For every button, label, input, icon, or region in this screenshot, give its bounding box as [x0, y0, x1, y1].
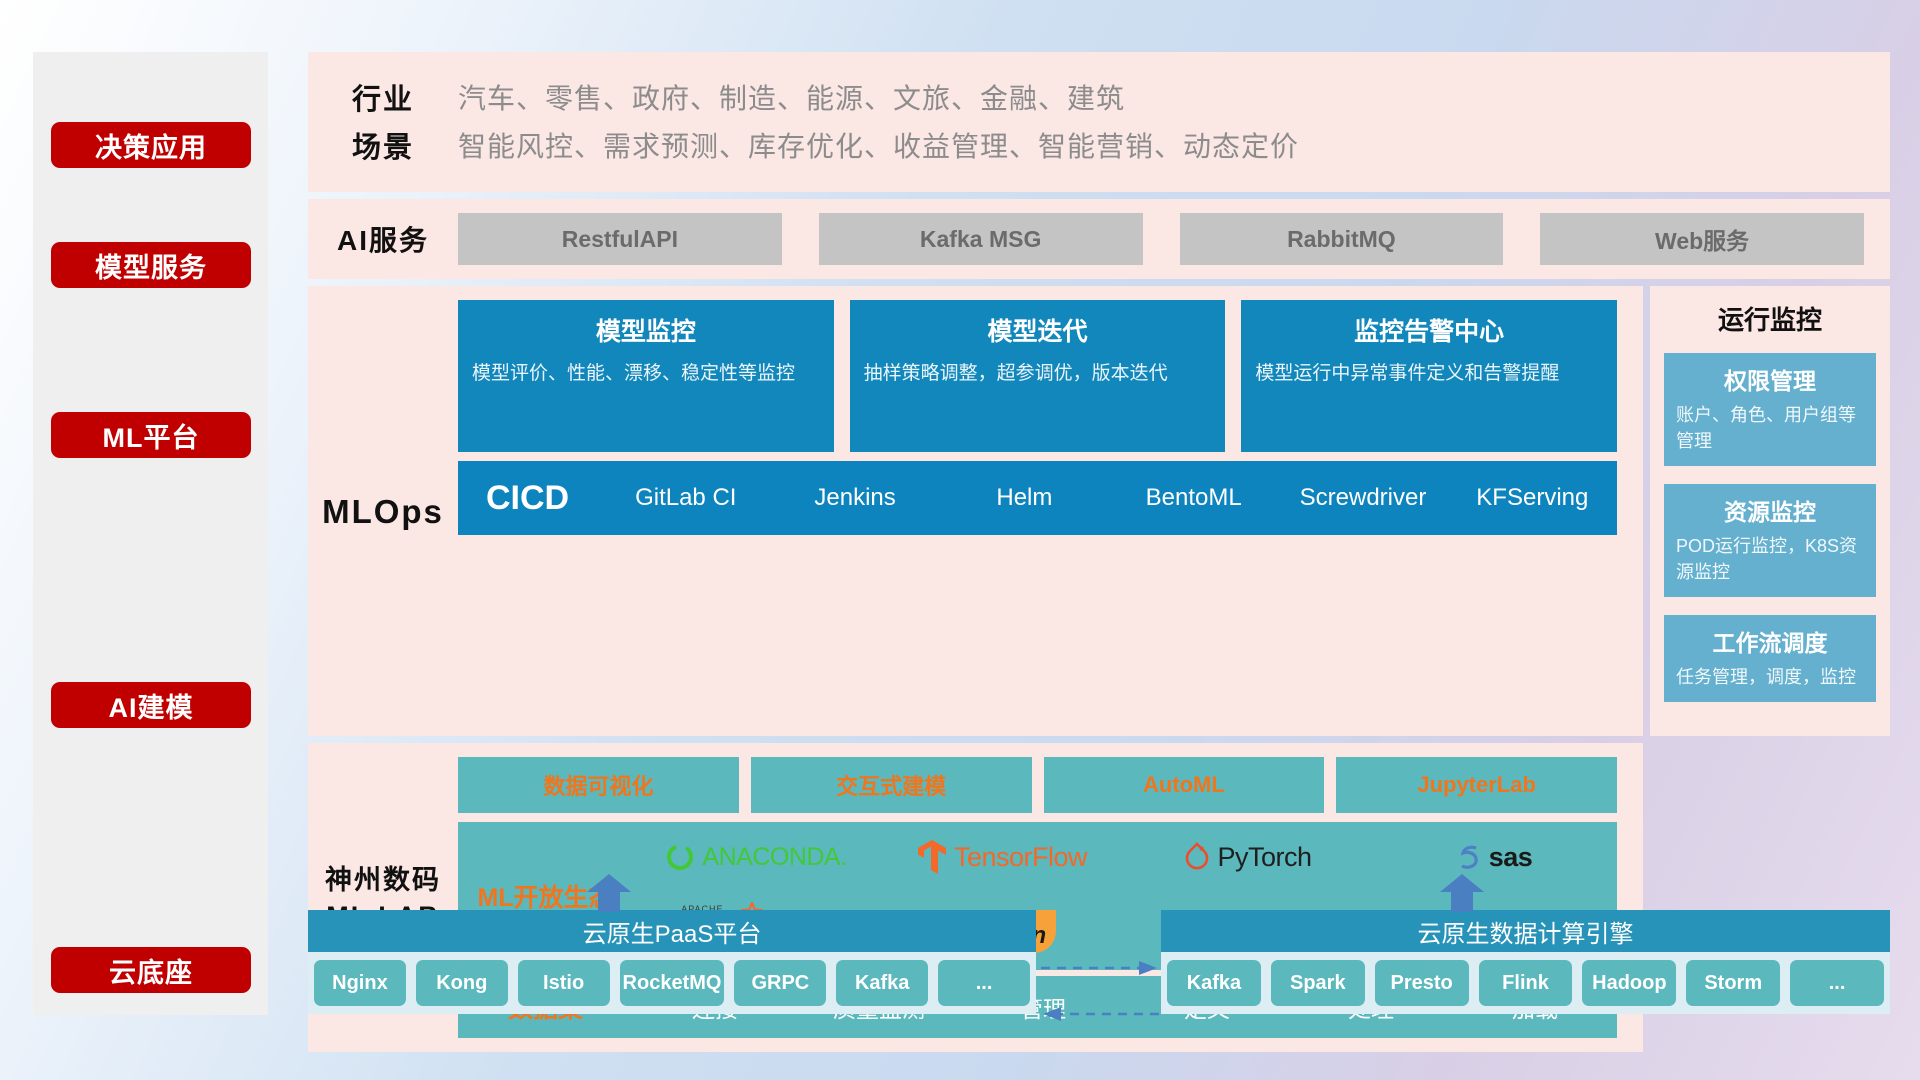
monitor-card-0[interactable]: 权限管理账户、角色、用户组等管理: [1664, 353, 1876, 466]
data-engine-chip-0[interactable]: Kafka: [1167, 960, 1261, 1006]
mlops-card-desc: 抽样策略调整，超参调优，版本迭代: [864, 360, 1212, 389]
ml-tool-chip-2[interactable]: AutoML: [1044, 757, 1325, 813]
mlops-card-desc: 模型运行中异常事件定义和告警提醒: [1255, 360, 1603, 389]
monitor-card-2[interactable]: 工作流调度任务管理，调度，监控: [1664, 615, 1876, 702]
data-engine-up-arrow-icon: [1440, 874, 1484, 912]
rail-chip-3[interactable]: AI建模: [51, 682, 251, 728]
mlops-content: 模型监控模型评价、性能、漂移、稳定性等监控模型迭代抽样策略调整，超参调优，版本迭…: [458, 300, 1643, 724]
rail-chip-1[interactable]: 模型服务: [51, 242, 251, 288]
runtime-monitoring-panel: 运行监控 权限管理账户、角色、用户组等管理资源监控POD运行监控，K8S资源监控…: [1650, 286, 1890, 736]
scenario-label: 场景: [308, 124, 458, 166]
ai-service-chip-1[interactable]: Kafka MSG: [819, 213, 1143, 265]
cicd-item-5[interactable]: KFServing: [1448, 479, 1617, 517]
mlops-card-row: 模型监控模型评价、性能、漂移、稳定性等监控模型迭代抽样策略调整，超参调优，版本迭…: [458, 300, 1617, 452]
paas-up-arrow-icon: [587, 874, 631, 912]
cicd-item-3[interactable]: BentoML: [1109, 479, 1278, 517]
industry-label: 行业: [308, 76, 458, 118]
paas-chip-6[interactable]: ...: [938, 960, 1030, 1006]
paas-chip-3[interactable]: RocketMQ: [620, 960, 725, 1006]
ml-tool-chip-1[interactable]: 交互式建模: [751, 757, 1032, 813]
cloud-foundation-section: 云原生PaaS平台 NginxKongIstioRocketMQGRPCKafk…: [308, 886, 1890, 1016]
ml-tool-chip-0[interactable]: 数据可视化: [458, 757, 739, 813]
paas-platform-header: 云原生PaaS平台: [308, 910, 1036, 952]
monitor-card-desc: 任务管理，调度，监控: [1676, 664, 1864, 690]
data-engine-chip-4[interactable]: Hadoop: [1582, 960, 1676, 1006]
anaconda-logo: ANACONDA.: [633, 842, 879, 872]
paas-chip-5[interactable]: Kafka: [836, 960, 928, 1006]
mlops-card-2[interactable]: 监控告警中心模型运行中异常事件定义和告警提醒: [1241, 300, 1617, 452]
paas-chip-4[interactable]: GRPC: [734, 960, 826, 1006]
ai-service-label: AI服务: [308, 219, 458, 259]
data-engine-group: 云原生数据计算引擎 KafkaSparkPrestoFlinkHadoopSto…: [1161, 910, 1890, 1014]
mlops-card-desc: 模型评价、性能、漂移、稳定性等监控: [472, 360, 820, 389]
mlops-band: MLOps 模型监控模型评价、性能、漂移、稳定性等监控模型迭代抽样策略调整，超参…: [308, 286, 1890, 736]
monitor-card-1[interactable]: 资源监控POD运行监控，K8S资源监控: [1664, 484, 1876, 597]
data-engine-chip-3[interactable]: Flink: [1479, 960, 1573, 1006]
pytorch-logo: PyTorch: [1125, 842, 1371, 873]
data-engine-chip-row: KafkaSparkPrestoFlinkHadoopStorm...: [1161, 952, 1890, 1014]
ai-service-chip-0[interactable]: RestfulAPI: [458, 213, 782, 265]
ml-tool-chip-3[interactable]: JupyterLab: [1336, 757, 1617, 813]
paas-chip-2[interactable]: Istio: [518, 960, 610, 1006]
cicd-item-row: GitLab CIJenkinsHelmBentoMLScrewdriverKF…: [601, 479, 1617, 517]
rail-chip-4[interactable]: 云底座: [51, 947, 251, 993]
paas-platform-group: 云原生PaaS平台 NginxKongIstioRocketMQGRPCKafk…: [308, 910, 1036, 1014]
industry-scenario-band: 行业 汽车、零售、政府、制造、能源、文旅、金融、建筑 场景 智能风控、需求预测、…: [308, 52, 1890, 192]
monitor-card-title: 工作流调度: [1676, 624, 1864, 658]
data-engine-chip-1[interactable]: Spark: [1271, 960, 1365, 1006]
data-engine-header: 云原生数据计算引擎: [1161, 910, 1890, 952]
monitor-card-title: 权限管理: [1676, 362, 1864, 396]
mlops-card-1[interactable]: 模型迭代抽样策略调整，超参调优，版本迭代: [850, 300, 1226, 452]
monitor-card-desc: POD运行监控，K8S资源监控: [1676, 533, 1864, 585]
data-engine-chip-6[interactable]: ...: [1790, 960, 1884, 1006]
ml-tool-chip-row: 数据可视化交互式建模AutoMLJupyterLab: [458, 757, 1617, 813]
mlops-card-title: 监控告警中心: [1255, 312, 1603, 348]
ai-service-band: AI服务 RestfulAPIKafka MSGRabbitMQWeb服务: [308, 199, 1890, 279]
cicd-item-0[interactable]: GitLab CI: [601, 479, 770, 517]
paas-chip-1[interactable]: Kong: [416, 960, 508, 1006]
runtime-monitoring-title: 运行监控: [1664, 300, 1876, 337]
cicd-item-1[interactable]: Jenkins: [770, 479, 939, 517]
industry-value: 汽车、零售、政府、制造、能源、文旅、金融、建筑: [458, 77, 1125, 117]
tensorflow-logo: TensorFlow: [879, 840, 1125, 874]
mlops-card-0[interactable]: 模型监控模型评价、性能、漂移、稳定性等监控: [458, 300, 834, 452]
mlops-label: MLOps: [308, 300, 458, 724]
bidirectional-connector-icon: [1039, 956, 1161, 1028]
rail-chip-0[interactable]: 决策应用: [51, 122, 251, 168]
left-layer-rail: 决策应用模型服务ML平台AI建模云底座: [33, 52, 268, 1015]
mlops-card-title: 模型监控: [472, 312, 820, 348]
cicd-item-2[interactable]: Helm: [940, 479, 1109, 517]
data-engine-chip-5[interactable]: Storm: [1686, 960, 1780, 1006]
runtime-monitoring-cards: 权限管理账户、角色、用户组等管理资源监控POD运行监控，K8S资源监控工作流调度…: [1664, 353, 1876, 702]
scenario-row: 场景 智能风控、需求预测、库存优化、收益管理、智能营销、动态定价: [308, 124, 1890, 166]
paas-chip-row: NginxKongIstioRocketMQGRPCKafka...: [308, 952, 1036, 1014]
cicd-item-4[interactable]: Screwdriver: [1278, 479, 1447, 517]
industry-row: 行业 汽车、零售、政府、制造、能源、文旅、金融、建筑: [308, 76, 1890, 118]
data-engine-chip-2[interactable]: Presto: [1375, 960, 1469, 1006]
ai-service-chip-3[interactable]: Web服务: [1540, 213, 1864, 265]
mlops-panel: MLOps 模型监控模型评价、性能、漂移、稳定性等监控模型迭代抽样策略调整，超参…: [308, 286, 1643, 736]
cicd-bar: CICD GitLab CIJenkinsHelmBentoMLScrewdri…: [458, 461, 1617, 535]
ai-service-chip-2[interactable]: RabbitMQ: [1180, 213, 1504, 265]
monitor-card-desc: 账户、角色、用户组等管理: [1676, 402, 1864, 454]
cicd-title: CICD: [486, 479, 569, 518]
ai-service-chip-grid: RestfulAPIKafka MSGRabbitMQWeb服务: [458, 213, 1890, 265]
scenario-value: 智能风控、需求预测、库存优化、收益管理、智能营销、动态定价: [458, 125, 1299, 165]
monitor-card-title: 资源监控: [1676, 493, 1864, 527]
rail-chip-2[interactable]: ML平台: [51, 412, 251, 458]
sas-logo: sas: [1371, 842, 1617, 873]
mlops-card-title: 模型迭代: [864, 312, 1212, 348]
paas-chip-0[interactable]: Nginx: [314, 960, 406, 1006]
